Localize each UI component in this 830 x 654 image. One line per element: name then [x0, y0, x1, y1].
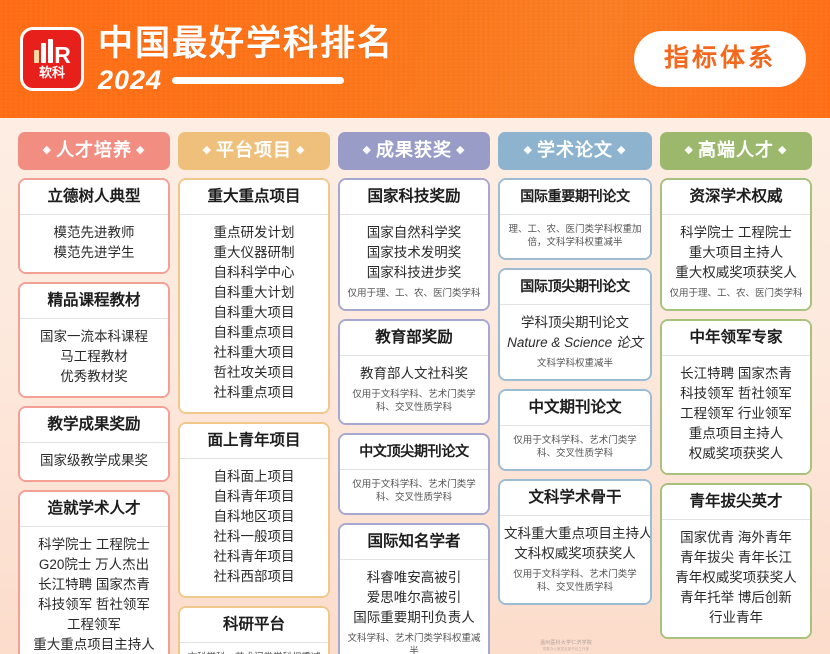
card-title: 中文顶尖期刊论文 [340, 435, 488, 469]
list-item: 自科重大项目 [184, 303, 324, 323]
diamond-icon: ◆ [296, 144, 305, 156]
list-item: 社科重大项目 [184, 343, 324, 363]
card-general-youth-projects[interactable]: 面上青年项目 自科面上项目 自科青年项目 自科地区项目 社科一般项目 社科青年项… [178, 422, 330, 598]
diamond-icon: ◆ [203, 144, 212, 156]
bar-chart-icon [34, 39, 53, 63]
card-title: 立德树人典型 [20, 180, 168, 214]
card-title: 国家科技奖励 [340, 180, 488, 214]
list-item: 自科地区项目 [184, 507, 324, 527]
list-item: 权威奖项获奖人 [666, 444, 806, 464]
card-intl-important-journal-papers[interactable]: 国际重要期刊论文 理、工、农、医门类学科权重加倍，文科学科权重减半 [498, 178, 652, 260]
list-item: 长江特聘 国家杰青 [24, 575, 164, 595]
card-title: 国际顶尖期刊论文 [500, 270, 650, 304]
card-teaching-awards[interactable]: 教学成果奖励 国家级教学成果奖 [18, 406, 170, 482]
list-item: 自科重大计划 [184, 283, 324, 303]
list-item: 国家级教学成果奖 [24, 451, 164, 471]
card-body: 国家自然科学奖 国家技术发明奖 国家科技进步奖 仅用于理、工、农、医门类学科 [340, 214, 488, 309]
watermark-line-2: 党委办公室党支部书记工作室 [540, 646, 592, 652]
list-item: 重大仪器研制 [184, 243, 324, 263]
diamond-icon: ◆ [617, 144, 626, 156]
list-item: 青年托举 博后创新 [666, 588, 806, 608]
page-header: R 软科 中国最好学科排名 2024 指标体系 [0, 0, 830, 118]
column-header-achievement-awards: ◆成果获奖◆ [338, 132, 490, 170]
list-item: 模范先进学生 [24, 243, 164, 263]
list-item: 国家科技进步奖 [344, 263, 484, 283]
list-item: 重大权威奖项获奖人 [666, 263, 806, 283]
card-note: 仅用于文科学科、艺术门类学科、交叉性质学科 [504, 568, 646, 594]
card-note: 仅用于理、工、农、医门类学科 [344, 287, 484, 300]
card-young-top-talent[interactable]: 青年拔尖英才 国家优青 海外青年 青年拔尖 青年长江 青年权威奖项获奖人 青年托… [660, 483, 812, 639]
card-quality-courses[interactable]: 精品课程教材 国家一流本科课程 马工程教材 优秀教材奖 [18, 282, 170, 398]
edition-year: 2024 [98, 66, 162, 94]
indicator-system-poster: R 软科 中国最好学科排名 2024 指标体系 ◆人才培养◆ 立德树人典型 [0, 0, 830, 654]
card-body: 国家一流本科课程 马工程教材 优秀教材奖 [20, 318, 168, 396]
card-note: 文科学科权重减半 [504, 357, 646, 370]
column-header-academic-papers: ◆学术论文◆ [498, 132, 652, 170]
card-title: 造就学术人才 [20, 492, 168, 526]
column-platform-projects: ◆平台项目◆ 重大重点项目 重点研发计划 重大仪器研制 自科科学中心 自科重大计… [178, 132, 330, 654]
list-item: 自科重点项目 [184, 323, 324, 343]
diamond-icon: ◆ [363, 144, 372, 156]
column-header-platform-projects: ◆平台项目◆ [178, 132, 330, 170]
diamond-icon: ◆ [456, 144, 465, 156]
diamond-icon: ◆ [685, 144, 694, 156]
list-item: 自科科学中心 [184, 263, 324, 283]
list-item: 哲社攻关项目 [184, 363, 324, 383]
list-item: 青年权威奖项获奖人 [666, 568, 806, 588]
watermark: 温州医科大学仁济学院 党委办公室党支部书记工作室 [540, 640, 592, 652]
title-block: 中国最好学科排名 2024 [98, 24, 394, 94]
card-title: 国际知名学者 [340, 525, 488, 559]
list-item: 国家一流本科课程 [24, 327, 164, 347]
list-item: 国际重要期刊负责人 [344, 608, 484, 628]
card-title: 重大重点项目 [180, 180, 328, 214]
card-title: 精品课程教材 [20, 284, 168, 318]
diamond-icon: ◆ [43, 144, 52, 156]
list-item: 工程领军 [24, 615, 164, 635]
card-title: 国际重要期刊论文 [500, 180, 650, 214]
list-item: 行业青年 [666, 608, 806, 628]
column-talent-training: ◆人才培养◆ 立德树人典型 模范先进教师 模范先进学生 精品课程教材 国家一流本… [18, 132, 170, 654]
card-title: 教育部奖励 [340, 321, 488, 355]
card-body: 文科学科、艺术门类学科权重减半 [180, 642, 328, 654]
card-liberal-arts-backbone[interactable]: 文科学术骨干 文科重大重点项目主持人 文科权威奖项获奖人 仅用于文科学科、艺术门… [498, 479, 652, 605]
diamond-icon: ◆ [778, 144, 787, 156]
card-chinese-top-journal-papers[interactable]: 中文顶尖期刊论文 仅用于文科学科、艺术门类学科、交叉性质学科 [338, 433, 490, 515]
diamond-icon: ◆ [136, 144, 145, 156]
list-item: 重点研发计划 [184, 223, 324, 243]
list-item: 模范先进教师 [24, 223, 164, 243]
list-item: 科学院士 工程院士 [666, 223, 806, 243]
list-item: 国家优青 海外青年 [666, 528, 806, 548]
list-item: 文科重大重点项目主持人 [504, 524, 646, 544]
column-achievement-awards: ◆成果获奖◆ 国家科技奖励 国家自然科学奖 国家技术发明奖 国家科技进步奖 仅用… [338, 132, 490, 654]
card-body: 长江特聘 国家杰青 科技领军 哲社领军 工程领军 行业领军 重点项目主持人 权威… [662, 355, 810, 473]
list-item: 重大项目主持人 [666, 243, 806, 263]
card-body: 重点研发计划 重大仪器研制 自科科学中心 自科重大计划 自科重大项目 自科重点项… [180, 214, 328, 412]
card-academic-talent[interactable]: 造就学术人才 科学院士 工程院士 G20院士 万人杰出 长江特聘 国家杰青 科技… [18, 490, 170, 654]
card-title: 青年拔尖英才 [662, 485, 810, 519]
column-header-top-talent: ◆高端人才◆ [660, 132, 812, 170]
list-item: 青年拔尖 青年长江 [666, 548, 806, 568]
list-item: 科技领军 哲社领军 [24, 595, 164, 615]
section-badge: 指标体系 [634, 31, 806, 87]
card-body: 科学院士 工程院士 重大项目主持人 重大权威奖项获奖人 仅用于理、工、农、医门类… [662, 214, 810, 309]
card-title: 中文期刊论文 [500, 391, 650, 425]
column-header-talent-training: ◆人才培养◆ [18, 132, 170, 170]
list-item: 社科重点项目 [184, 383, 324, 403]
card-body: 科睿唯安高被引 爱思唯尔高被引 国际重要期刊负责人 文科学科、艺术门类学科权重减… [340, 559, 488, 654]
card-note: 文科学科、艺术门类学科权重减半 [344, 632, 484, 654]
card-body: 国家级教学成果奖 [20, 442, 168, 480]
list-item: 工程领军 行业领军 [666, 404, 806, 424]
card-intl-top-journal-papers[interactable]: 国际顶尖期刊论文 学科顶尖期刊论文 Nature & Science 论文 文科… [498, 268, 652, 381]
card-midcareer-leading-experts[interactable]: 中年领军专家 长江特聘 国家杰青 科技领军 哲社领军 工程领军 行业领军 重点项… [660, 319, 812, 475]
card-international-known-scholars[interactable]: 国际知名学者 科睿唯安高被引 爱思唯尔高被引 国际重要期刊负责人 文科学科、艺术… [338, 523, 490, 654]
list-item: G20院士 万人杰出 [24, 555, 164, 575]
list-item: 自科青年项目 [184, 487, 324, 507]
card-title: 面上青年项目 [180, 424, 328, 458]
list-item: 科睿唯安高被引 [344, 568, 484, 588]
diamond-icon: ◆ [524, 144, 533, 156]
card-note: 仅用于文科学科、艺术门类学科、交叉性质学科 [344, 478, 484, 504]
ruanke-logo: R 软科 [20, 27, 84, 91]
list-item: 重点项目主持人 [666, 424, 806, 444]
card-major-key-projects[interactable]: 重大重点项目 重点研发计划 重大仪器研制 自科科学中心 自科重大计划 自科重大项… [178, 178, 330, 414]
card-title: 文科学术骨干 [500, 481, 650, 515]
list-item: 社科西部项目 [184, 567, 324, 587]
card-body: 仅用于文科学科、艺术门类学科、交叉性质学科 [340, 469, 488, 513]
logo-r-letter: R [54, 44, 70, 66]
list-item: 社科青年项目 [184, 547, 324, 567]
card-note: 理、工、农、医门类学科权重加倍，文科学科权重减半 [504, 223, 646, 249]
logo-brand-text: 软科 [39, 66, 65, 80]
card-body: 科学院士 工程院士 G20院士 万人杰出 长江特聘 国家杰青 科技领军 哲社领军… [20, 526, 168, 654]
indicator-board: ◆人才培养◆ 立德树人典型 模范先进教师 模范先进学生 精品课程教材 国家一流本… [18, 132, 812, 654]
card-body: 模范先进教师 模范先进学生 [20, 214, 168, 272]
list-item: 教育部人文社科奖 [344, 364, 484, 384]
list-item: 文科权威奖项获奖人 [504, 544, 646, 564]
list-item: 马工程教材 [24, 347, 164, 367]
column-top-talent: ◆高端人才◆ 资深学术权威 科学院士 工程院士 重大项目主持人 重大权威奖项获奖… [660, 132, 812, 654]
list-item: 长江特聘 国家杰青 [666, 364, 806, 384]
card-note: 仅用于文科学科、艺术门类学科、交叉性质学科 [504, 434, 646, 460]
list-item: 科学院士 工程院士 [24, 535, 164, 555]
card-moral-education[interactable]: 立德树人典型 模范先进教师 模范先进学生 [18, 178, 170, 274]
list-item: 学科顶尖期刊论文 [504, 313, 646, 333]
card-title: 科研平台 [180, 608, 328, 642]
list-item: 国家自然科学奖 [344, 223, 484, 243]
list-item: 重大重点项目主持人 [24, 635, 164, 654]
card-body: 理、工、农、医门类学科权重加倍，文科学科权重减半 [500, 214, 650, 258]
card-body: 国家优青 海外青年 青年拔尖 青年长江 青年权威奖项获奖人 青年托举 博后创新 … [662, 519, 810, 637]
list-item: 社科一般项目 [184, 527, 324, 547]
title-rule [172, 77, 344, 84]
column-academic-papers: ◆学术论文◆ 国际重要期刊论文 理、工、农、医门类学科权重加倍，文科学科权重减半… [498, 132, 652, 654]
card-note: 仅用于文科学科、艺术门类学科、交叉性质学科 [344, 388, 484, 414]
list-item: Nature & Science 论文 [504, 333, 646, 353]
page-title: 中国最好学科排名 [98, 24, 394, 64]
card-national-sci-tech-awards[interactable]: 国家科技奖励 国家自然科学奖 国家技术发明奖 国家科技进步奖 仅用于理、工、农、… [338, 178, 490, 311]
card-body: 学科顶尖期刊论文 Nature & Science 论文 文科学科权重减半 [500, 304, 650, 379]
card-research-platform[interactable]: 科研平台 文科学科、艺术门类学科权重减半 [178, 606, 330, 654]
card-body: 文科重大重点项目主持人 文科权威奖项获奖人 仅用于文科学科、艺术门类学科、交叉性… [500, 515, 650, 603]
card-note: 仅用于理、工、农、医门类学科 [666, 287, 806, 300]
list-item: 自科面上项目 [184, 467, 324, 487]
list-item: 优秀教材奖 [24, 367, 164, 387]
card-chinese-journal-papers[interactable]: 中文期刊论文 仅用于文科学科、艺术门类学科、交叉性质学科 [498, 389, 652, 471]
card-moe-awards[interactable]: 教育部奖励 教育部人文社科奖 仅用于文科学科、艺术门类学科、交叉性质学科 [338, 319, 490, 425]
card-title: 资深学术权威 [662, 180, 810, 214]
list-item: 国家技术发明奖 [344, 243, 484, 263]
card-senior-academic-authority[interactable]: 资深学术权威 科学院士 工程院士 重大项目主持人 重大权威奖项获奖人 仅用于理、… [660, 178, 812, 311]
card-title: 中年领军专家 [662, 321, 810, 355]
card-body: 自科面上项目 自科青年项目 自科地区项目 社科一般项目 社科青年项目 社科西部项… [180, 458, 328, 596]
card-body: 仅用于文科学科、艺术门类学科、交叉性质学科 [500, 425, 650, 469]
card-body: 教育部人文社科奖 仅用于文科学科、艺术门类学科、交叉性质学科 [340, 355, 488, 423]
list-item: 科技领军 哲社领军 [666, 384, 806, 404]
list-item: 爱思唯尔高被引 [344, 588, 484, 608]
card-title: 教学成果奖励 [20, 408, 168, 442]
